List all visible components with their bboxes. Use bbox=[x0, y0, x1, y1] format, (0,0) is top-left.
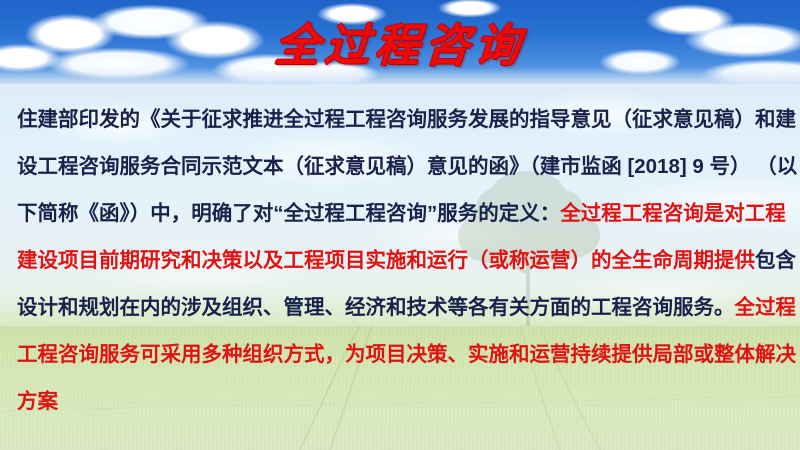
page-title-text: 全过程咨询 bbox=[273, 9, 528, 74]
text-line-6: 工程咨询服务可采用多种组织方式，为项目决策、实施和运营持续提供局部或整体解决 bbox=[17, 340, 789, 370]
body-paragraph: 住建部印发的《关于征求推进全过程工程咨询服务发展的指导意见（征求意见稿）和建 设… bbox=[0, 84, 800, 450]
text-line-5: 设计和规划在内的涉及组织、管理、经济和技术等各有关方面的工程咨询服务。全过程 bbox=[17, 293, 789, 323]
text-segment-3-2: 全过程工程咨询是对工程 bbox=[560, 202, 786, 225]
page-title: 全过程咨询 bbox=[0, 10, 800, 72]
text-segment-5-1: 设计和规划在内的涉及组织、管理、经济和技术等各有关方面的工程咨询服务。 bbox=[17, 296, 735, 319]
text-line-7: 方案 bbox=[17, 387, 789, 417]
text-line-2: 设工程咨询服务合同示范文本（征求意见稿）意见的函》（建市监函 [2018] 9 … bbox=[17, 152, 789, 182]
text-segment-2-1: 设工程咨询服务合同示范文本（征求意见稿）意见的函》（建市监函 [2018] 9 … bbox=[17, 155, 797, 178]
text-segment-4-1: 建设项目前期研究和决策以及工程项目实施和运行（或称运营）的全生命周期提供 bbox=[17, 249, 755, 272]
text-segment-6-1: 工程咨询服务可采用多种组织方式，为项目决策、实施和运营持续提供局部或整体解决 bbox=[17, 343, 796, 366]
text-line-4: 建设项目前期研究和决策以及工程项目实施和运行（或称运营）的全生命周期提供包含 bbox=[17, 246, 789, 276]
text-segment-4-2: 包含 bbox=[755, 249, 796, 272]
text-segment-7-1: 方案 bbox=[17, 390, 58, 413]
text-segment-3-1: 下简称《函》）中，明确了对“全过程工程咨询”服务的定义： bbox=[17, 202, 560, 225]
presentation-slide: 全过程咨询 住建部印发的《关于征求推进全过程工程咨询服务发展的指导意见（征求意见… bbox=[0, 0, 800, 450]
text-segment-1-1: 住建部印发的《关于征求推进全过程工程咨询服务发展的指导意见（征求意见稿）和建 bbox=[17, 108, 796, 131]
text-segment-5-2: 全过程 bbox=[735, 296, 797, 319]
text-line-1: 住建部印发的《关于征求推进全过程工程咨询服务发展的指导意见（征求意见稿）和建 bbox=[17, 105, 789, 135]
text-line-3: 下简称《函》）中，明确了对“全过程工程咨询”服务的定义：全过程工程咨询是对工程 bbox=[17, 199, 789, 229]
